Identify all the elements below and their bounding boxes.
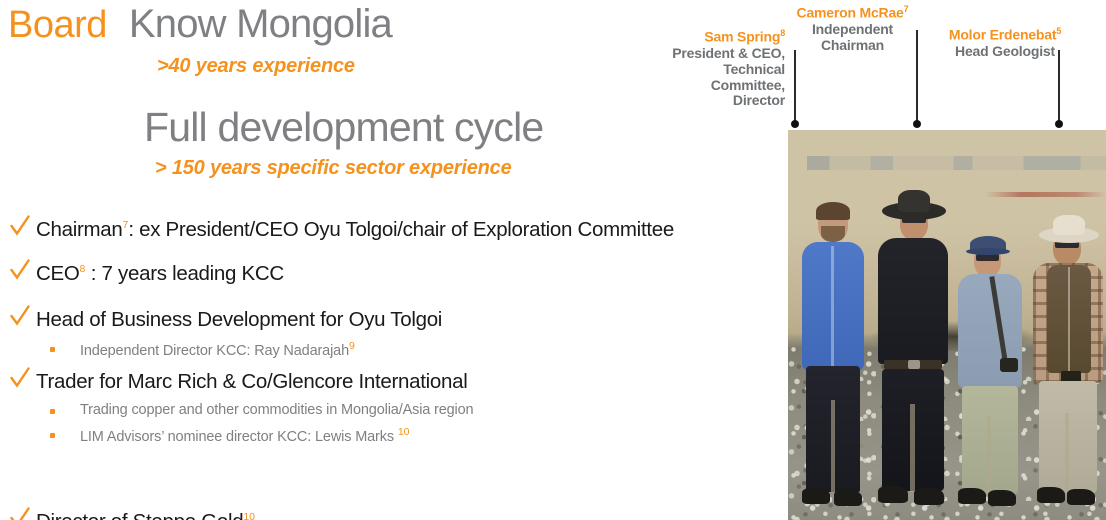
person-4-shoe-right (1067, 489, 1095, 505)
person-1-shoe-left (802, 488, 830, 504)
callout-role-line: Independent (780, 22, 925, 38)
page-title: BoardKnow Mongolia (8, 2, 392, 47)
person-4-shoe-left (1037, 487, 1065, 503)
sub-bullet-item: Trading copper and other commodities in … (0, 403, 473, 419)
sub-bullet-item: LIM Advisors’ nominee director KCC: Lewi… (0, 427, 410, 446)
person-2-belt-buckle (908, 360, 920, 369)
sub-bullet-superscript: 9 (349, 340, 355, 352)
person-1-shirt-placket (831, 246, 834, 366)
person-4-hat-crown (1053, 215, 1085, 235)
sub-bullet-superscript: 10 (398, 426, 410, 438)
photo-distant-buildings (788, 156, 1106, 170)
header-title: Know Mongolia (129, 2, 392, 46)
square-bullet-icon (50, 433, 55, 438)
person-1-shoe-right (834, 490, 862, 506)
leader-dot-cameron-mcrae (913, 120, 921, 128)
bullet-text-main: Head of Business Development for Oyu Tol… (36, 308, 442, 331)
sub-bullet-text: LIM Advisors’ nominee director KCC: Lewi… (80, 429, 398, 445)
slide-root: BoardKnow Mongolia >40 years experience … (0, 0, 1106, 520)
leader-dot-sam-spring (791, 120, 799, 128)
person-3-shoe-left (958, 488, 986, 504)
callout-superscript: 7 (904, 4, 909, 14)
bullet-item: Director of Steppe Gold10 (0, 511, 255, 520)
person-2-shirt (878, 238, 948, 364)
callout-role-line: President & CEO, (600, 46, 785, 62)
callout-role-line: Head Geologist (925, 44, 1085, 60)
person-3-leg-gap (987, 416, 991, 496)
leader-dot-molor-erdenebat (1055, 120, 1063, 128)
bullet-block: Trader for Marc Rich & Co/Glencore Inter… (0, 365, 790, 453)
square-bullet-icon (50, 409, 55, 414)
person-3-cap-brim (966, 248, 1010, 255)
checkmark-icon (10, 259, 30, 281)
bullet-text-main: Chairman (36, 218, 122, 241)
bullet-superscript: 10 (243, 511, 255, 520)
person-2-hat-crown (898, 190, 930, 212)
photo-roadside-band (985, 192, 1106, 197)
header-title-2: Full development cycle (144, 104, 543, 151)
checkmark-icon (10, 367, 30, 389)
bullet-block: Head of Business Development for Oyu Tol… (0, 303, 790, 365)
bullet-item: Head of Business Development for Oyu Tol… (0, 309, 442, 331)
checkmark-icon (10, 507, 30, 520)
checkmark-icon (10, 305, 30, 327)
bullet-text-main: Director of Steppe Gold (36, 510, 243, 520)
callout-role-line: Committee, (600, 78, 785, 94)
leader-line-sam-spring (794, 50, 796, 124)
checkmark-icon (10, 215, 30, 237)
callout-sam-spring: Sam Spring8 President & CEO, Technical C… (600, 28, 785, 109)
callout-cameron-mcrae: Cameron McRae7 Independent Chairman (780, 4, 925, 54)
header-eyebrow: Board (8, 4, 107, 46)
person-2-shoe-left (878, 486, 908, 503)
person-3-camera (1000, 358, 1018, 372)
bullet-item: Chairman7: ex President/CEO Oyu Tolgoi/c… (0, 219, 674, 241)
person-1 (800, 200, 866, 520)
person-2-leg-gap (910, 404, 915, 492)
callout-molor-erdenebat: Molor Erdenebat5 Head Geologist (925, 26, 1085, 60)
bullet-item: CEO8 : 7 years leading KCC (0, 263, 284, 285)
header-subtitle-1: >40 years experience (157, 55, 355, 78)
person-3-sunglasses-icon (976, 254, 999, 261)
callout-name: Molor Erdenebat5 (925, 26, 1085, 44)
person-4-vest-zip (1068, 267, 1070, 371)
callout-role-line: Director (600, 93, 785, 109)
person-1-hair (816, 202, 850, 220)
callout-name: Sam Spring8 (600, 28, 785, 46)
callout-name: Cameron McRae7 (780, 4, 925, 22)
bullet-list: Chairman7: ex President/CEO Oyu Tolgoi/c… (0, 205, 790, 513)
bullet-text-rest: : 7 years leading KCC (85, 262, 284, 285)
sub-bullet-text: Trading copper and other commodities in … (80, 402, 473, 418)
bullet-text-rest: : ex President/CEO Oyu Tolgoi/chair of E… (128, 218, 674, 241)
bullet-block: Director of Steppe Gold10 Current constr… (0, 453, 790, 513)
leader-line-molor-erdenebat (1058, 50, 1060, 124)
person-1-leg-gap (831, 400, 835, 492)
callout-role-line: Chairman (780, 38, 925, 54)
person-1-beard (821, 226, 845, 242)
bullet-block: Chairman7: ex President/CEO Oyu Tolgoi/c… (0, 205, 790, 255)
team-photo (788, 130, 1106, 520)
square-bullet-icon (50, 347, 55, 352)
person-2 (876, 190, 950, 520)
bullet-item: Trader for Marc Rich & Co/Glencore Inter… (0, 371, 467, 393)
sub-bullet-item: Independent Director KCC: Ray Nadarajah9 (0, 341, 355, 360)
bullet-text-main: Trader for Marc Rich & Co/Glencore Inter… (36, 370, 467, 393)
person-3-shoe-right (988, 490, 1016, 506)
leader-line-cameron-mcrae (916, 30, 918, 124)
bullet-text-main: CEO (36, 262, 80, 285)
person-3 (956, 210, 1024, 520)
person-4-leg-gap (1065, 413, 1069, 495)
callout-superscript: 5 (1056, 26, 1061, 36)
person-2-shoe-right (914, 488, 944, 505)
header-subtitle-2: > 150 years specific sector experience (155, 157, 512, 180)
sub-bullet-text: Independent Director KCC: Ray Nadarajah (80, 343, 349, 359)
person-4 (1033, 205, 1105, 520)
callout-role-line: Technical (600, 62, 785, 78)
bullet-block: CEO8 : 7 years leading KCC (0, 255, 790, 303)
